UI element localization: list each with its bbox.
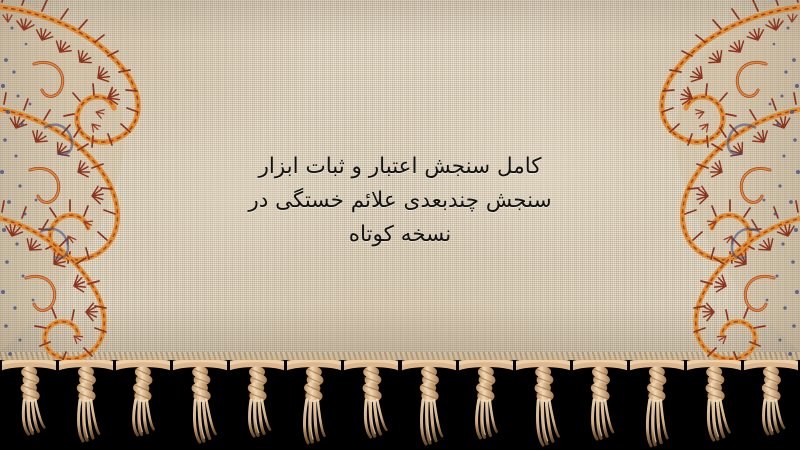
tassel (116, 360, 170, 450)
tassel (516, 360, 570, 450)
tassel (402, 360, 456, 450)
tassel (573, 360, 627, 450)
knotted-tassel-fringe (0, 360, 800, 450)
caption-line-1: کامل سنجش اعتبار و ثبات ابزار (0, 150, 800, 184)
slide-canvas: کامل سنجش اعتبار و ثبات ابزار سنجش چندبع… (0, 0, 800, 450)
tassel (59, 360, 113, 450)
caption-line-2: سنجش چندبعدی علائم خستگی در (0, 184, 800, 218)
tassel (744, 360, 798, 450)
tassel (344, 360, 398, 450)
tassel (287, 360, 341, 450)
caption-line-3: نسخه کوتاه (0, 218, 800, 252)
tassel (230, 360, 284, 450)
tassel (173, 360, 227, 450)
tassel (630, 360, 684, 450)
tassel (459, 360, 513, 450)
tassel (687, 360, 741, 450)
slide-caption: کامل سنجش اعتبار و ثبات ابزار سنجش چندبع… (0, 150, 800, 252)
tassel (2, 360, 56, 450)
